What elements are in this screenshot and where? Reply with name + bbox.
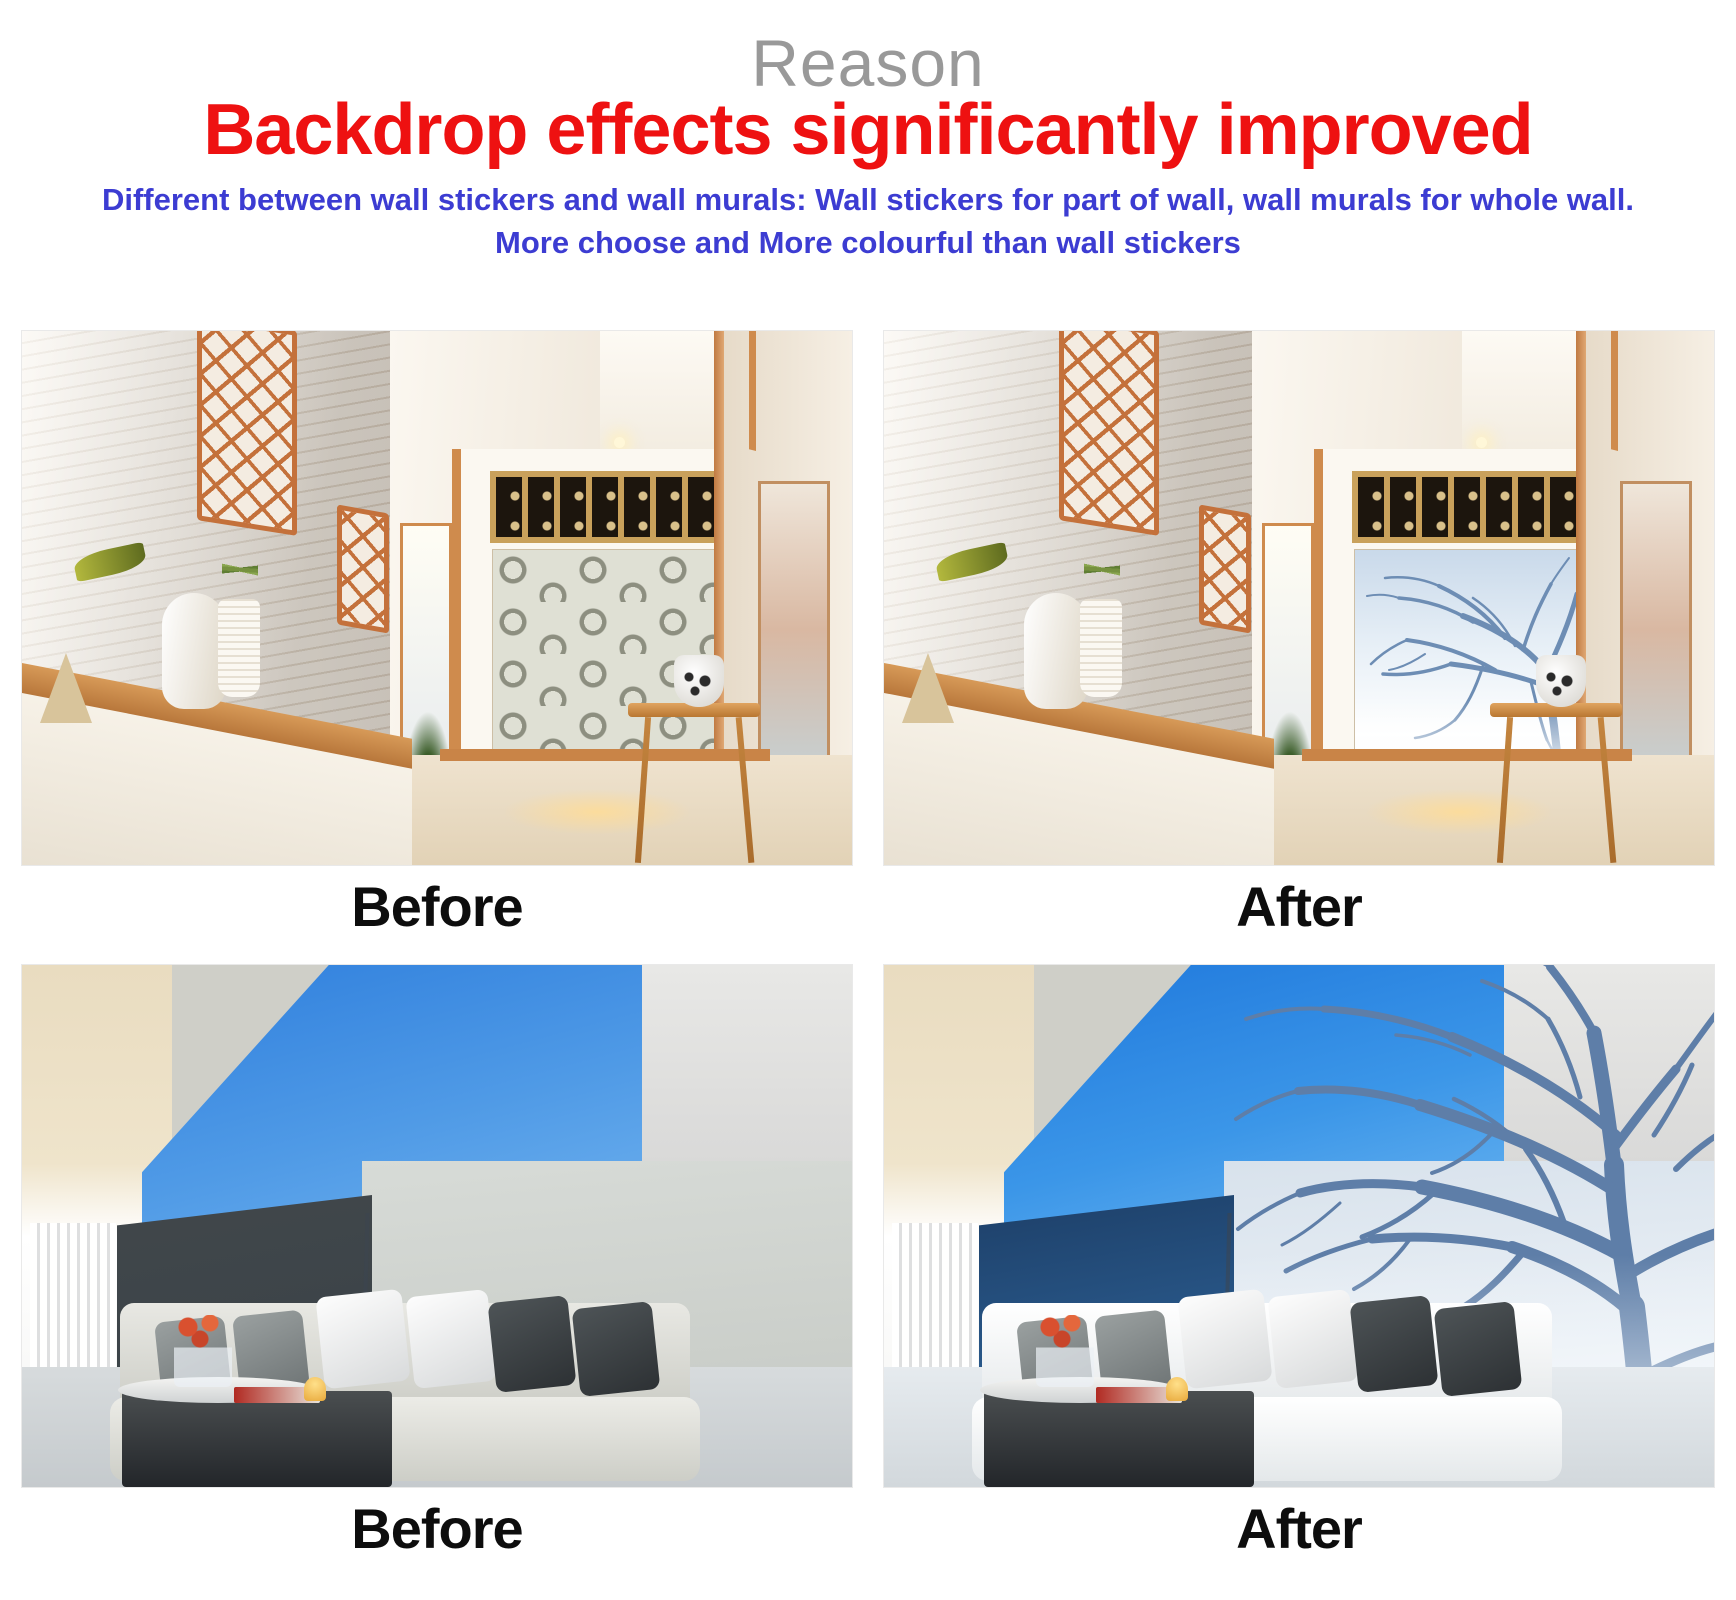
pillow <box>1350 1295 1439 1393</box>
coffee-table <box>984 1391 1254 1487</box>
lattice-panel-large <box>1059 330 1159 536</box>
panel-living-after: After <box>883 964 1715 1564</box>
hallway-scene-before <box>22 331 852 865</box>
grass-plant <box>1084 531 1120 609</box>
decorative-bowl <box>1536 655 1586 707</box>
candle-icon <box>1166 1377 1188 1401</box>
baseboard <box>1302 749 1632 761</box>
grass-plant <box>222 531 258 609</box>
pillow <box>488 1295 577 1393</box>
candle-icon <box>304 1377 326 1401</box>
photo-living-after <box>883 964 1715 1488</box>
photo-hallway-before <box>21 330 853 866</box>
comparison-grid: Before <box>0 330 1736 1564</box>
floor-light-reflection <box>502 789 692 835</box>
decorative-bowl <box>674 655 724 707</box>
pillow <box>1177 1289 1272 1389</box>
subtitle-line-2: More choose and More colourful than wall… <box>55 221 1681 264</box>
caption-hallway-before: Before <box>21 866 853 942</box>
vase-white <box>1024 593 1088 709</box>
right-wall-trim-upper <box>749 330 756 451</box>
lattice-panel-small <box>337 504 389 633</box>
panel-hallway-after: After <box>883 330 1715 942</box>
baseboard <box>440 749 770 761</box>
lattice-panel-large <box>197 330 297 536</box>
panel-hallway-before: Before <box>21 330 853 942</box>
transom-screen <box>1352 471 1602 543</box>
cone-ornament <box>902 653 954 723</box>
vase-ribbed <box>1080 599 1122 697</box>
pillow <box>315 1289 410 1389</box>
pillow <box>572 1301 661 1397</box>
panel-living-before: Before <box>21 964 853 1564</box>
ceiling-downlight-icon <box>1476 437 1487 448</box>
coffee-table <box>122 1391 392 1487</box>
flower-vase <box>1036 1315 1094 1387</box>
caption-hallway-after: After <box>883 866 1715 942</box>
lattice-panel-small <box>1199 504 1251 633</box>
pillow <box>1267 1289 1358 1389</box>
photo-hallway-after <box>883 330 1715 866</box>
vase-white <box>162 593 226 709</box>
ceiling-downlight-icon <box>614 437 625 448</box>
comparison-row-living-room: Before <box>0 964 1736 1564</box>
cone-ornament <box>40 653 92 723</box>
hallway-scene-after <box>884 331 1714 865</box>
living-scene-before <box>22 965 852 1487</box>
photo-living-before <box>21 964 853 1488</box>
floor-light-reflection <box>1364 789 1554 835</box>
comparison-row-hallway: Before <box>0 330 1736 942</box>
transom-screen <box>490 471 740 543</box>
page-header: Reason Backdrop effects significantly im… <box>0 0 1736 264</box>
flower-vase <box>174 1315 232 1387</box>
pillow <box>1434 1301 1523 1397</box>
subtitle-line-1: Different between wall stickers and wall… <box>102 182 1634 217</box>
page-title: Backdrop effects significantly improved <box>0 90 1736 170</box>
pillow <box>405 1289 496 1389</box>
eyebrow-label: Reason <box>0 30 1736 96</box>
page-subtitle: Different between wall stickers and wall… <box>0 178 1736 264</box>
right-wall-trim-upper <box>1611 330 1618 451</box>
living-scene-after <box>884 965 1714 1487</box>
vase-ribbed <box>218 599 260 697</box>
caption-living-before: Before <box>21 1488 853 1564</box>
caption-living-after: After <box>883 1488 1715 1564</box>
